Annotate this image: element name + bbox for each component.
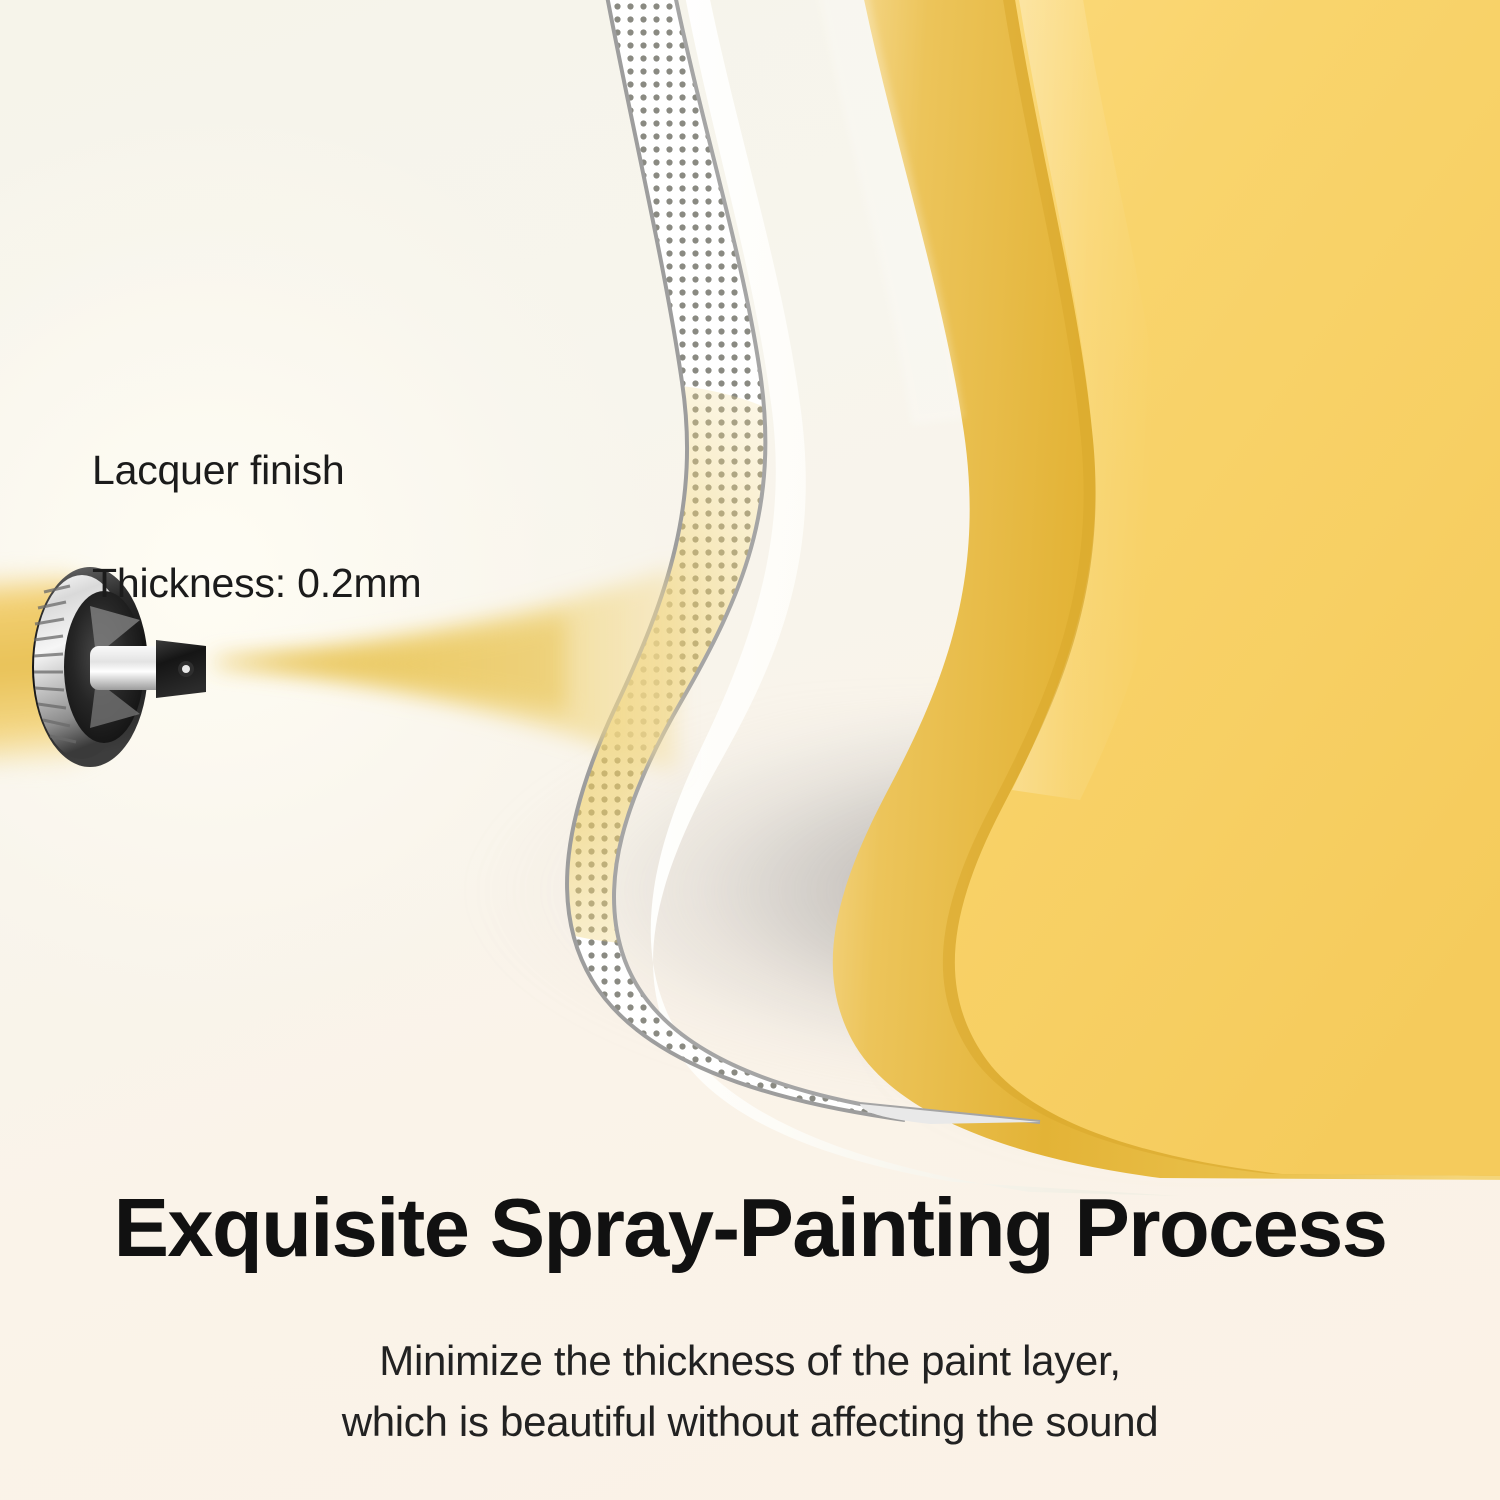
subtitle-line-1: Minimize the thickness of the paint laye… bbox=[0, 1330, 1500, 1391]
page-subtitle: Minimize the thickness of the paint laye… bbox=[0, 1330, 1500, 1453]
subtitle-line-2: which is beautiful without affecting the… bbox=[0, 1391, 1500, 1452]
page-title: Exquisite Spray-Painting Process bbox=[0, 1186, 1500, 1269]
annotation-line-1: Lacquer finish bbox=[92, 442, 421, 499]
guitar-body-shape bbox=[816, 0, 1500, 1180]
product-marketing-image: Lacquer finish Thickness: 0.2mm Exquisit… bbox=[0, 0, 1500, 1500]
annotation-line-2: Thickness: 0.2mm bbox=[92, 555, 421, 612]
lacquer-annotation: Lacquer finish Thickness: 0.2mm bbox=[92, 385, 421, 668]
